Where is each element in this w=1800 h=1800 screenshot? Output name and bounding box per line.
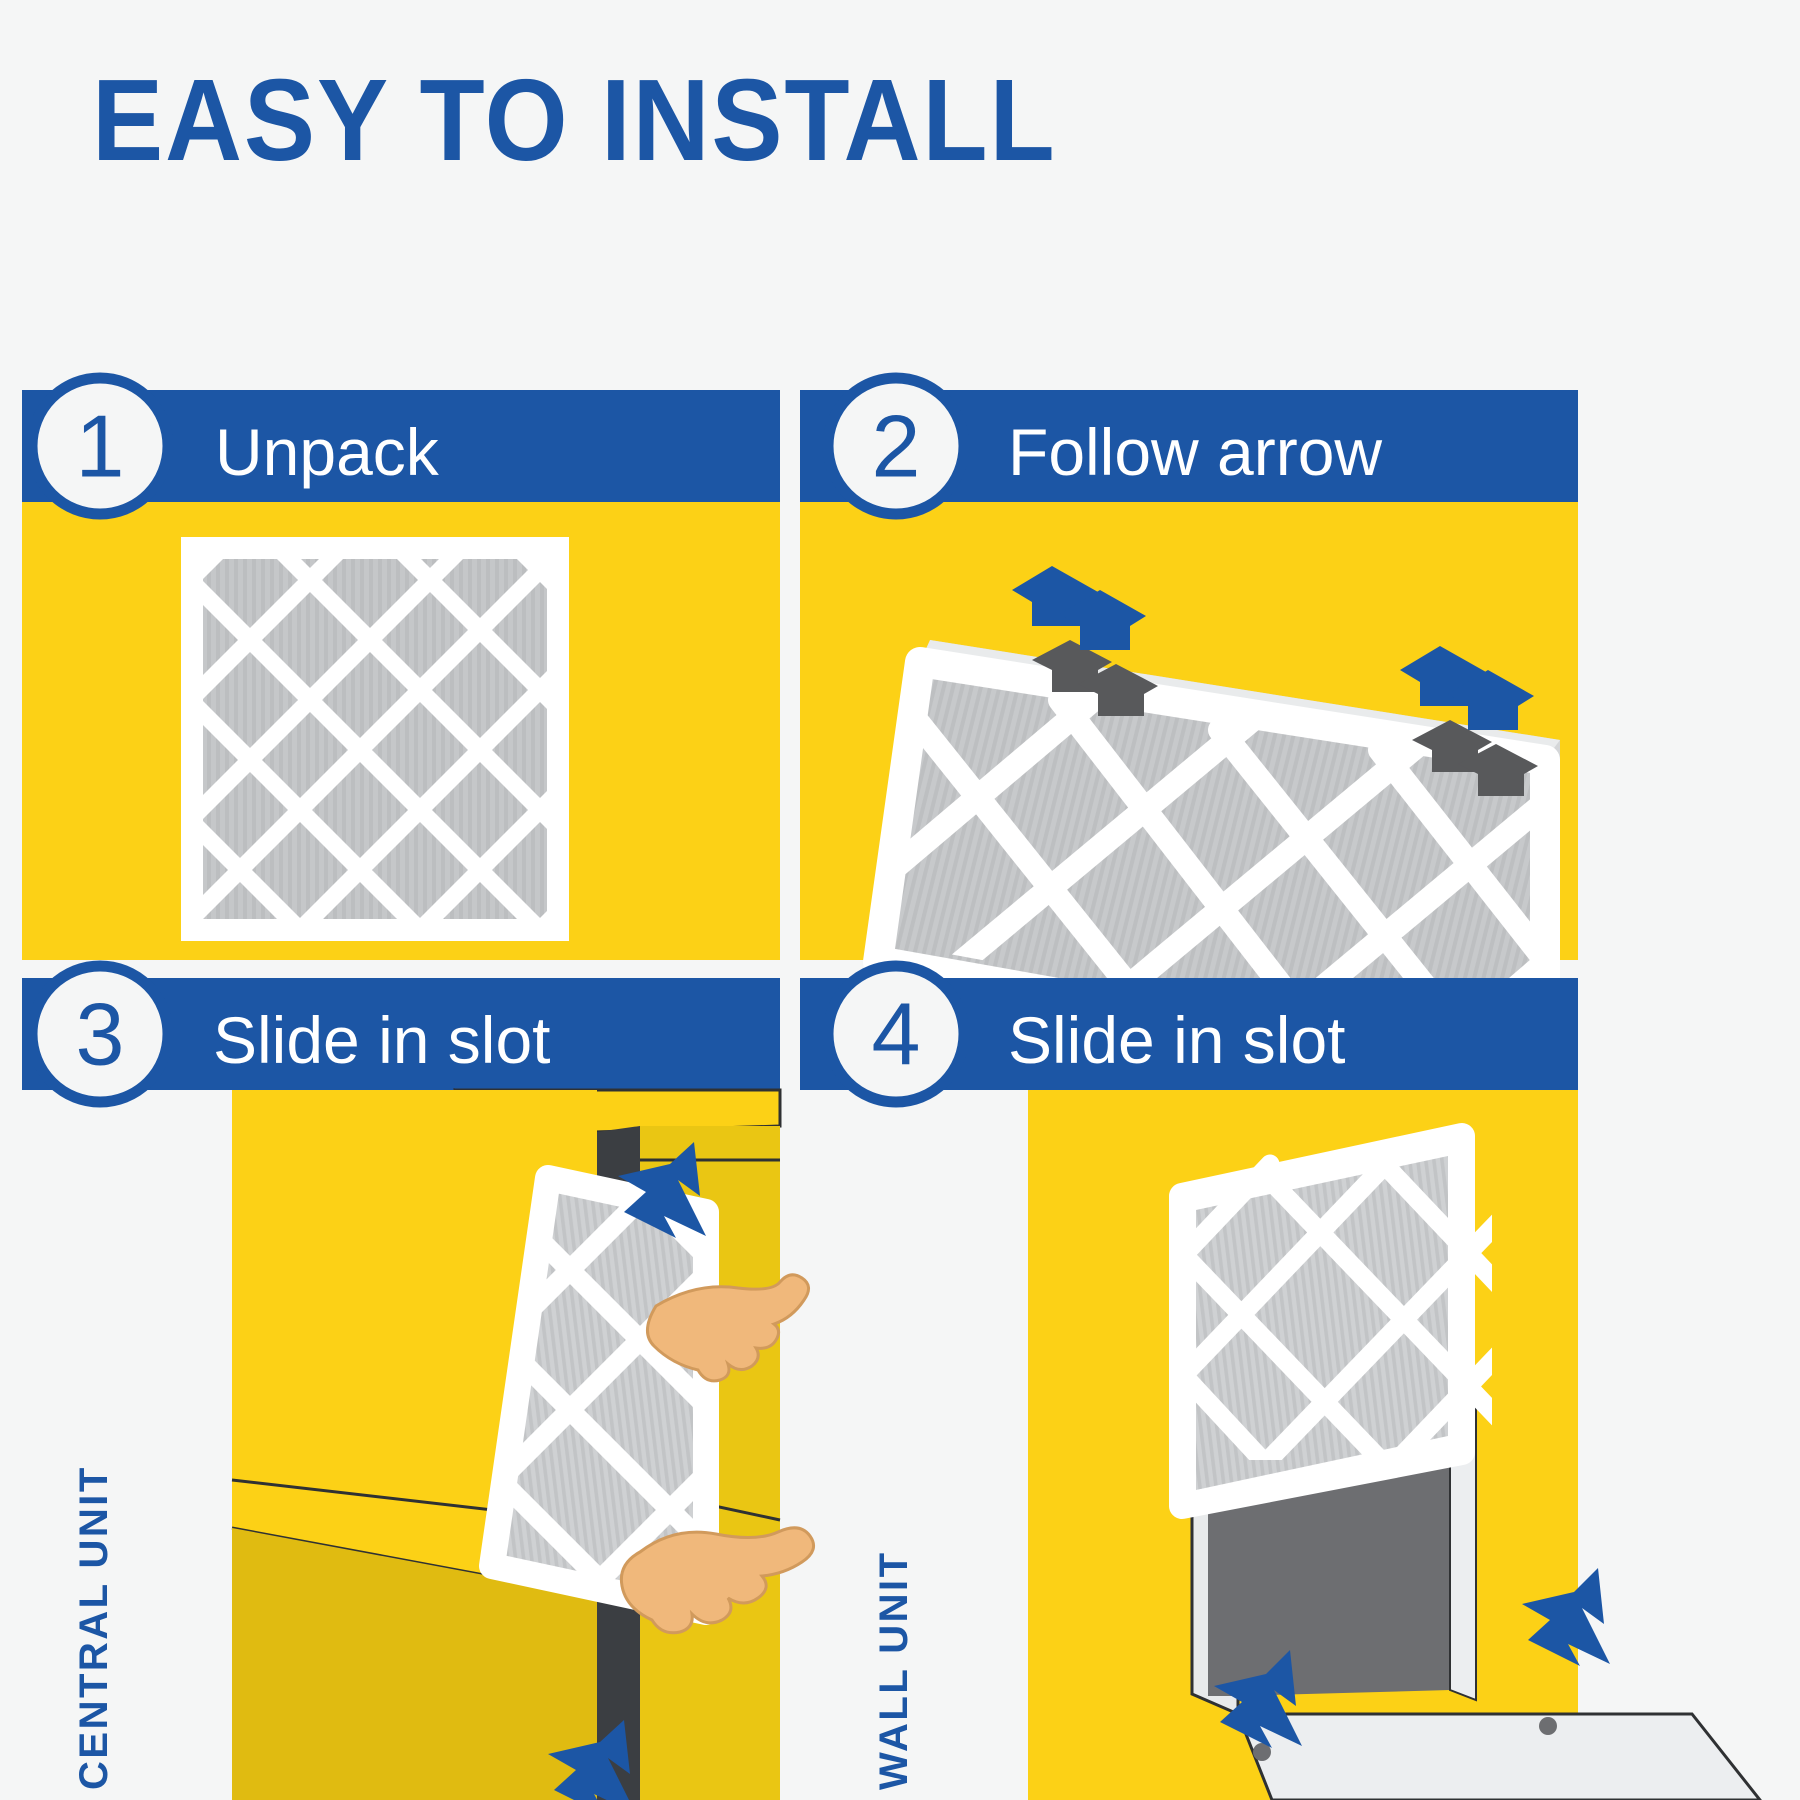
step-4-side-label: WALL UNIT: [872, 1550, 917, 1790]
grille-door: [1238, 1714, 1760, 1800]
infographic-canvas: EASY TO INSTALL: [0, 0, 1800, 1800]
screw-icon: [1539, 1717, 1557, 1735]
step-1-panel: 1 Unpack: [22, 378, 780, 980]
hand-lower: [621, 1528, 813, 1633]
step-1-number: 1: [76, 397, 125, 496]
step-2-label: Follow arrow: [1008, 415, 1382, 489]
air-filter-flat-icon: [130, 500, 610, 980]
step-3-side-label: CENTRAL UNIT: [72, 1465, 117, 1790]
step-4-panel: 4 Slide in slot: [800, 966, 1760, 1800]
step-3-panel: 3 Slide in slot: [22, 966, 820, 1800]
step-2-number: 2: [872, 397, 921, 496]
step-4-number: 4: [872, 985, 921, 1084]
steps-artboard: 1 Unpack: [0, 0, 1800, 1800]
step-1-label: Unpack: [215, 415, 440, 489]
central-unit-illustration: [232, 1090, 820, 1800]
step-3-number: 3: [76, 985, 125, 1084]
step-3-label: Slide in slot: [213, 1003, 551, 1077]
step-4-label: Slide in slot: [1008, 1003, 1346, 1077]
